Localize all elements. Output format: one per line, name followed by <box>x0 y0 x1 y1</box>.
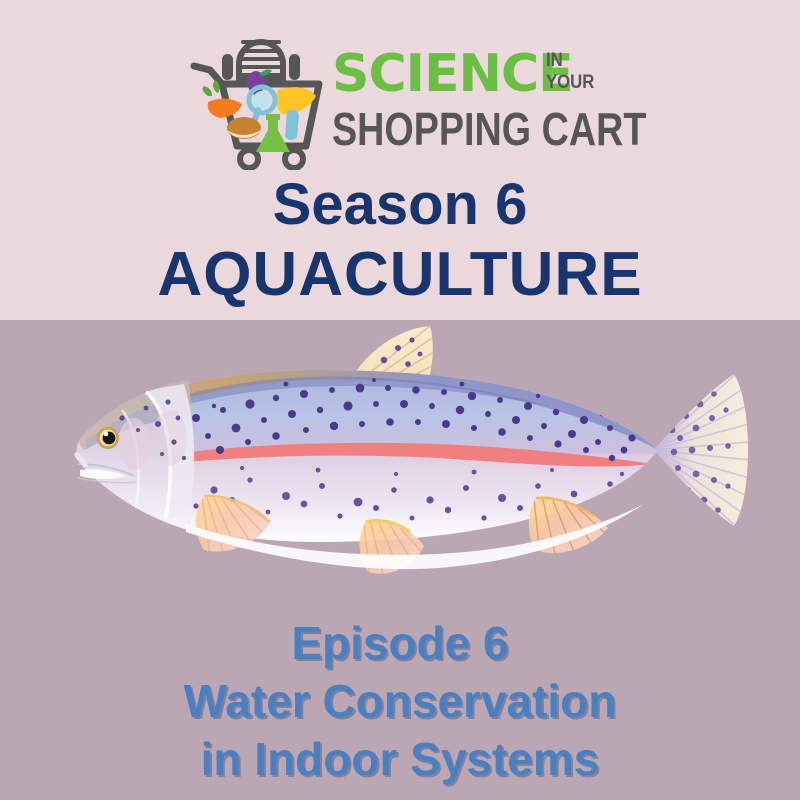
logo-in-text: IN <box>546 50 625 72</box>
logo-in-your-text: IN YOUR <box>546 50 636 94</box>
episode-block: Episode 6 Water Conservation in Indoor S… <box>0 614 800 788</box>
season-label: Season 6 <box>0 174 800 236</box>
rainbow-trout-illustration <box>18 318 782 586</box>
logo-science-text: SCIENCE <box>332 46 573 102</box>
episode-number: Episode 6 <box>0 614 800 672</box>
show-logo: SCIENCE IN YOUR SHOPPING CART <box>186 18 636 170</box>
season-topic: AQUACULTURE <box>0 242 800 308</box>
shopping-cart-microphone-logo <box>186 18 336 170</box>
episode-title-line-1: Water Conservation <box>0 672 800 730</box>
logo-your-text: YOUR <box>546 72 625 94</box>
logo-wordmark: SCIENCE IN YOUR SHOPPING CART <box>332 48 636 166</box>
logo-shopping-cart-text: SHOPPING CART <box>332 104 646 154</box>
podcast-cover: SCIENCE IN YOUR SHOPPING CART Season 6 A… <box>0 0 800 800</box>
episode-title-line-2: in Indoor Systems <box>0 730 800 788</box>
